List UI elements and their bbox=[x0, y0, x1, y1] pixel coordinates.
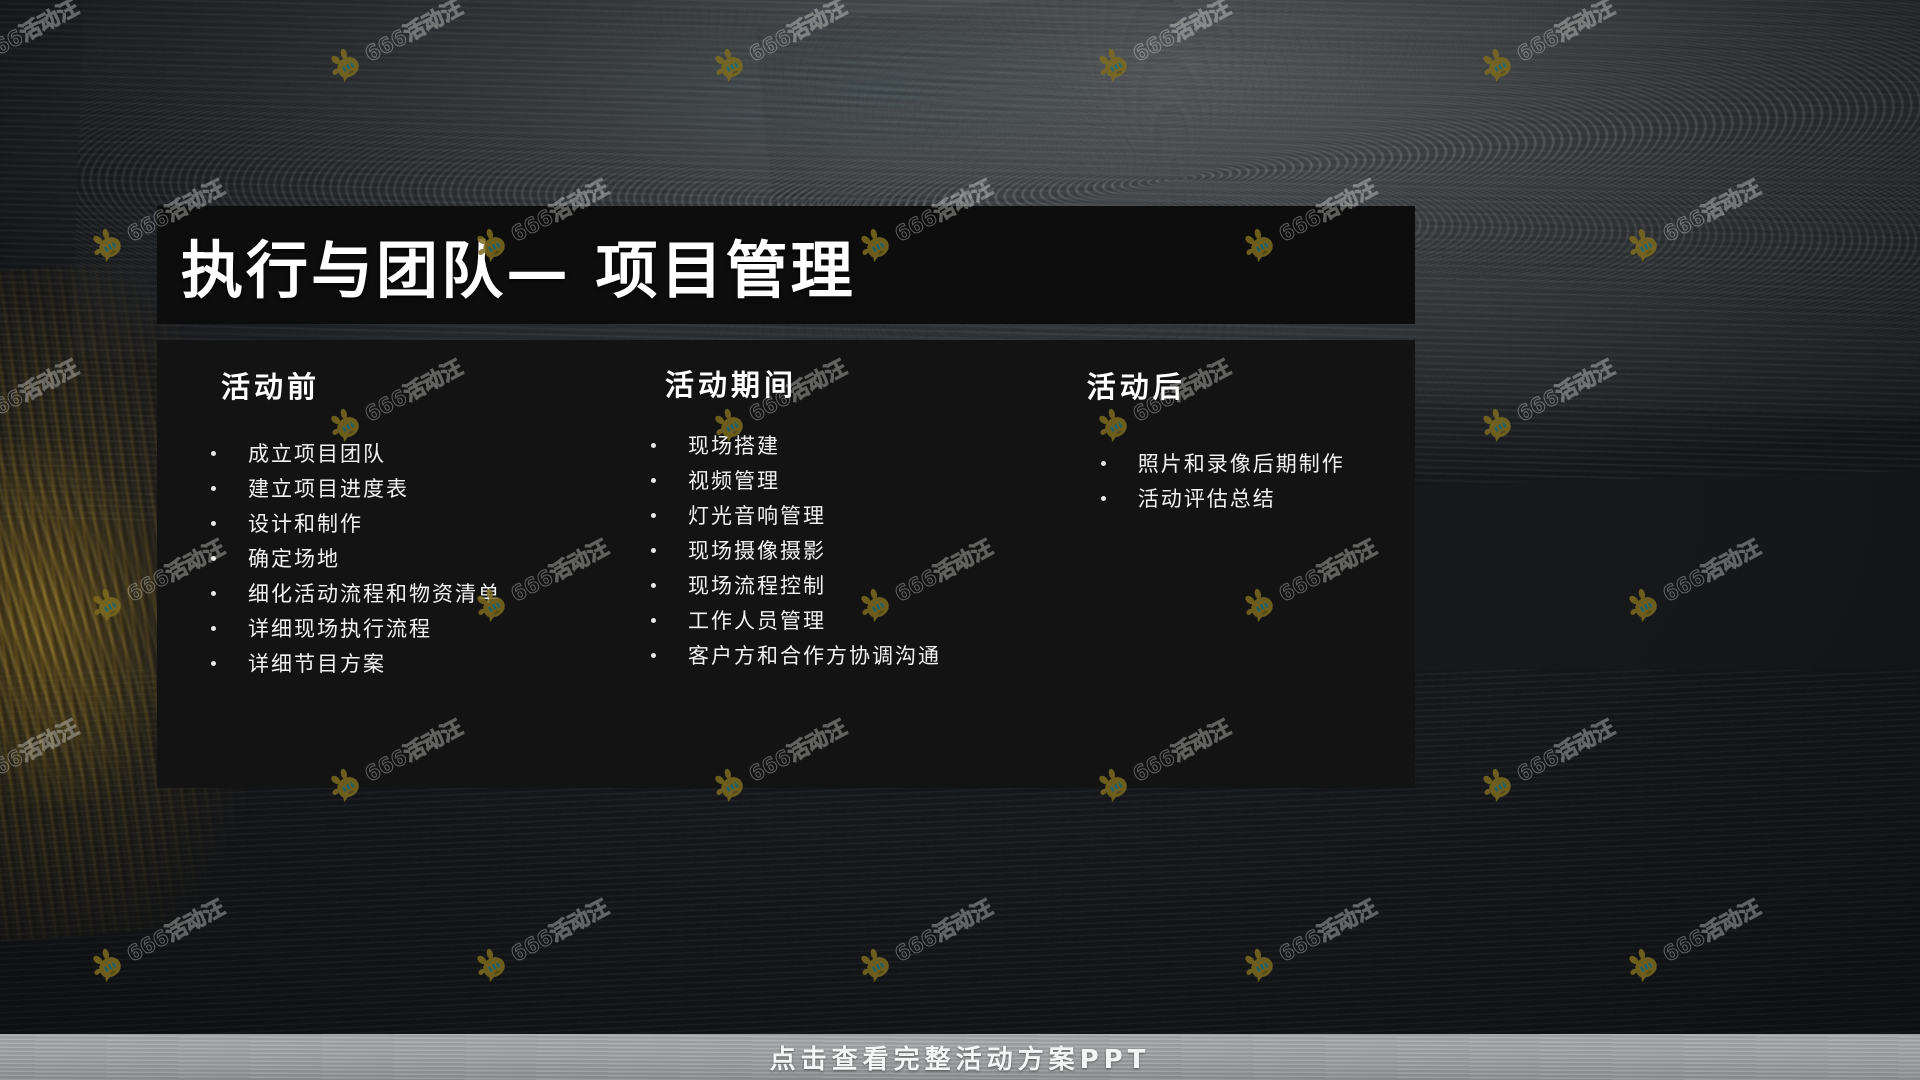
bullet-dot-icon bbox=[211, 486, 216, 491]
list-item-label: 活动评估总结 bbox=[1138, 489, 1276, 510]
list-item: 客户方和合作方协调沟通 bbox=[651, 646, 1063, 667]
bullet-dot-icon bbox=[211, 626, 216, 631]
list-item: 设计和制作 bbox=[211, 514, 635, 535]
list-item-label: 照片和录像后期制作 bbox=[1138, 454, 1345, 475]
bullet-dot-icon bbox=[211, 661, 216, 666]
slide-title-bar: 执行与团队— 项目管理 bbox=[157, 206, 1415, 324]
list-item-label: 详细现场执行流程 bbox=[248, 619, 432, 640]
bullet-dot-icon bbox=[211, 521, 216, 526]
column-during-event: 活动期间 现场搭建 视频管理 灯光音响管理 bbox=[635, 340, 1063, 788]
list-item-label: 灯光音响管理 bbox=[688, 506, 826, 527]
list-item-label: 设计和制作 bbox=[248, 514, 363, 535]
list-item: 灯光音响管理 bbox=[651, 506, 1063, 527]
list-item-label: 详细节目方案 bbox=[248, 654, 386, 675]
column-after-event: 活动后 照片和录像后期制作 活动评估总结 bbox=[1063, 340, 1415, 788]
list-item: 工作人员管理 bbox=[651, 611, 1063, 632]
list-item-label: 工作人员管理 bbox=[688, 611, 826, 632]
bullet-dot-icon bbox=[651, 653, 656, 658]
column-header-after: 活动后 bbox=[1087, 364, 1415, 406]
slide-content-panel: 活动前 成立项目团队 建立项目进度表 设计和制作 bbox=[157, 340, 1415, 788]
list-item-label: 建立项目进度表 bbox=[248, 479, 409, 500]
bullet-dot-icon bbox=[651, 548, 656, 553]
bullet-dot-icon bbox=[651, 478, 656, 483]
column-header-during: 活动期间 bbox=[665, 362, 1063, 404]
column-before-event: 活动前 成立项目团队 建立项目进度表 设计和制作 bbox=[157, 340, 635, 788]
bullet-dot-icon bbox=[651, 618, 656, 623]
column-header-before: 活动前 bbox=[221, 364, 635, 406]
page-title: 执行与团队— 项目管理 bbox=[157, 220, 856, 310]
presentation-slide: 执行与团队— 项目管理 活动前 成立项目团队 建立项目进度表 bbox=[0, 0, 1920, 1080]
list-item: 详细节目方案 bbox=[211, 654, 635, 675]
footer-cta-bar[interactable]: 点击查看完整活动方案PPT bbox=[0, 1034, 1920, 1080]
list-item: 建立项目进度表 bbox=[211, 479, 635, 500]
list-item-label: 现场搭建 bbox=[688, 436, 780, 457]
bullet-list-after: 照片和录像后期制作 活动评估总结 bbox=[1101, 454, 1415, 510]
list-item-label: 现场摄像摄影 bbox=[688, 541, 826, 562]
bullet-dot-icon bbox=[651, 513, 656, 518]
list-item: 成立项目团队 bbox=[211, 444, 635, 465]
list-item-label: 视频管理 bbox=[688, 471, 780, 492]
list-item-label: 细化活动流程和物资清单 bbox=[248, 584, 501, 605]
bullet-dot-icon bbox=[1101, 496, 1106, 501]
list-item: 细化活动流程和物资清单 bbox=[211, 584, 635, 605]
bullet-dot-icon bbox=[211, 556, 216, 561]
bullet-list-before: 成立项目团队 建立项目进度表 设计和制作 确定场地 bbox=[211, 444, 635, 675]
list-item: 现场摄像摄影 bbox=[651, 541, 1063, 562]
list-item: 现场流程控制 bbox=[651, 576, 1063, 597]
list-item: 视频管理 bbox=[651, 471, 1063, 492]
bullet-list-during: 现场搭建 视频管理 灯光音响管理 现场摄像摄影 bbox=[651, 436, 1063, 667]
list-item: 详细现场执行流程 bbox=[211, 619, 635, 640]
list-item: 现场搭建 bbox=[651, 436, 1063, 457]
list-item-label: 客户方和合作方协调沟通 bbox=[688, 646, 941, 667]
bullet-dot-icon bbox=[651, 443, 656, 448]
list-item-label: 现场流程控制 bbox=[688, 576, 826, 597]
three-column-layout: 活动前 成立项目团队 建立项目进度表 设计和制作 bbox=[157, 340, 1415, 788]
bullet-dot-icon bbox=[211, 591, 216, 596]
list-item: 照片和录像后期制作 bbox=[1101, 454, 1415, 475]
list-item: 活动评估总结 bbox=[1101, 489, 1415, 510]
list-item-label: 确定场地 bbox=[248, 549, 340, 570]
bullet-dot-icon bbox=[651, 583, 656, 588]
list-item-label: 成立项目团队 bbox=[248, 444, 386, 465]
bullet-dot-icon bbox=[211, 451, 216, 456]
footer-cta-label: 点击查看完整活动方案PPT bbox=[770, 1039, 1151, 1076]
list-item: 确定场地 bbox=[211, 549, 635, 570]
bullet-dot-icon bbox=[1101, 461, 1106, 466]
